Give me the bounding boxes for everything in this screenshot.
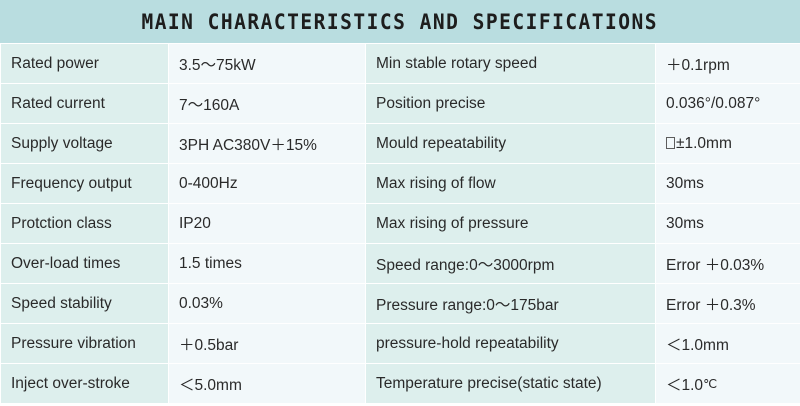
title-band: MAIN CHARACTERISTICS AND SPECIFICATIONS <box>0 0 800 43</box>
spec-value: ＜5.0mm <box>169 364 365 403</box>
degree-celsius-unit: ℃ <box>703 377 717 391</box>
spec-value: ±1.0mm <box>676 135 732 152</box>
spec-label: Max rising of pressure <box>366 204 655 243</box>
spec-value: 0.036°/0.087° <box>656 84 800 123</box>
spec-label: Rated power <box>1 44 168 83</box>
missing-glyph-box-icon <box>666 137 675 149</box>
spec-label: pressure-hold repeatability <box>366 324 655 363</box>
spec-label: Position precise <box>366 84 655 123</box>
table-row: Pressure vibration ＋0.5bar pressure-hold… <box>1 324 800 363</box>
spec-value: 3PH AC380V＋15% <box>169 124 365 163</box>
table-row: Speed stability 0.03% Pressure range:0～1… <box>1 284 800 323</box>
spec-label: Rated current <box>1 84 168 123</box>
spec-label: Pressure vibration <box>1 324 168 363</box>
spec-value: IP20 <box>169 204 365 243</box>
spec-label: Protction class <box>1 204 168 243</box>
specifications-table-body: Rated power 3.5～75kW Min stable rotary s… <box>1 44 800 403</box>
spec-label: Temperature precise(static state) <box>366 364 655 403</box>
spec-value-with-unit: ＜1.0℃ <box>656 364 800 403</box>
spec-label: Over-load times <box>1 244 168 283</box>
spec-label: Inject over-stroke <box>1 364 168 403</box>
spec-value: 7～160A <box>169 84 365 123</box>
spec-label: Min stable rotary speed <box>366 44 655 83</box>
spec-value: ＜1.0mm <box>656 324 800 363</box>
spec-value: 30ms <box>656 204 800 243</box>
spec-label: Max rising of flow <box>366 164 655 203</box>
table-row: Inject over-stroke ＜5.0mm Temperature pr… <box>1 364 800 403</box>
spec-value: 0.03% <box>169 284 365 323</box>
spec-value: ＋0.5bar <box>169 324 365 363</box>
spec-label: Speed range:0～3000rpm <box>366 244 655 283</box>
table-row: Rated current 7～160A Position precise 0.… <box>1 84 800 123</box>
spec-value: Error ＋0.3% <box>656 284 800 323</box>
spec-label: Frequency output <box>1 164 168 203</box>
spec-value: ＜1.0 <box>666 377 703 394</box>
spec-value: 3.5～75kW <box>169 44 365 83</box>
spec-value: 0-400Hz <box>169 164 365 203</box>
spec-value: Error ＋0.03% <box>656 244 800 283</box>
table-row: Frequency output 0-400Hz Max rising of f… <box>1 164 800 203</box>
table-row: Rated power 3.5～75kW Min stable rotary s… <box>1 44 800 83</box>
spec-label: Mould repeatability <box>366 124 655 163</box>
spec-label: Pressure range:0～175bar <box>366 284 655 323</box>
spec-value: ＋0.1rpm <box>656 44 800 83</box>
table-row: Protction class IP20 Max rising of press… <box>1 204 800 243</box>
spec-value-with-glyph: ±1.0mm <box>656 124 800 163</box>
table-row: Over-load times 1.5 times Speed range:0～… <box>1 244 800 283</box>
table-row: Supply voltage 3PH AC380V＋15% Mould repe… <box>1 124 800 163</box>
spec-value: 30ms <box>656 164 800 203</box>
specification-sheet: MAIN CHARACTERISTICS AND SPECIFICATIONS … <box>0 0 800 406</box>
spec-label: Supply voltage <box>1 124 168 163</box>
spec-label: Speed stability <box>1 284 168 323</box>
page-title: MAIN CHARACTERISTICS AND SPECIFICATIONS <box>142 10 659 34</box>
spec-value: 1.5 times <box>169 244 365 283</box>
specifications-table: Rated power 3.5～75kW Min stable rotary s… <box>0 43 800 404</box>
